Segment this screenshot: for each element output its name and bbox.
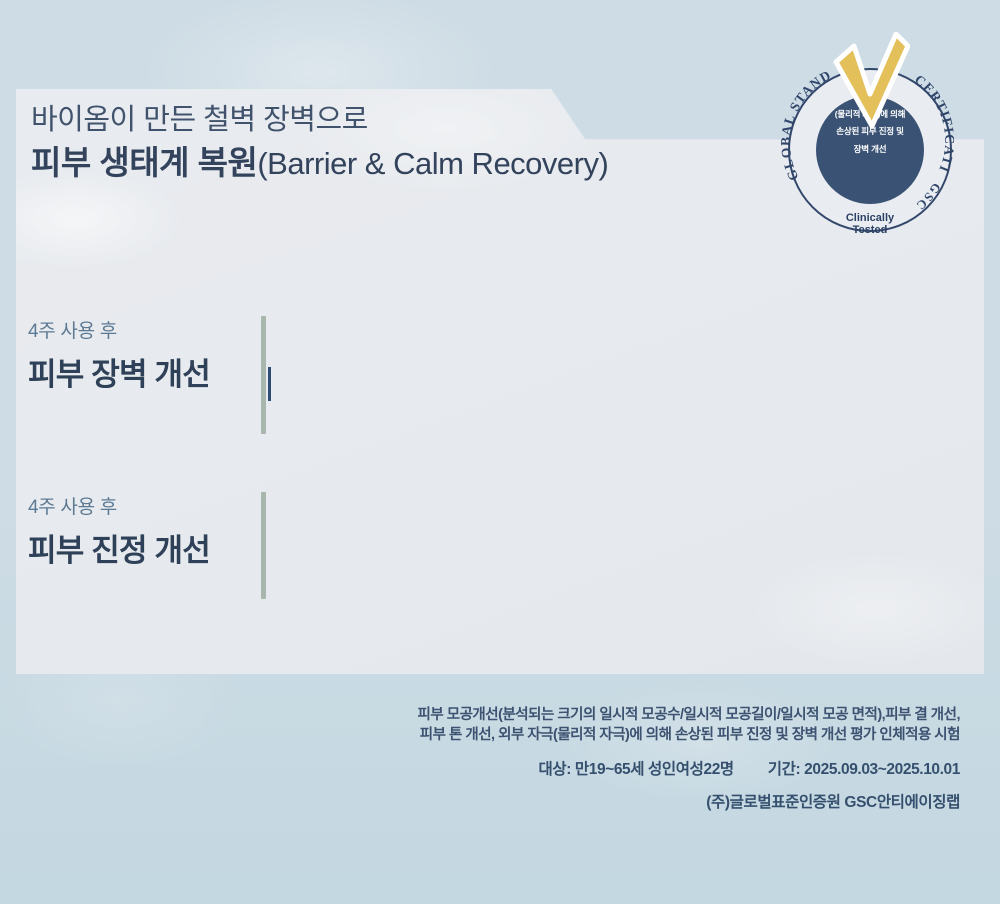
divider-bar-barrier: [261, 316, 266, 434]
badge-clinically-tested: Clinically Tested: [780, 212, 960, 237]
badge-clinically: Clinically: [780, 212, 960, 224]
footer-description: 피부 모공개선(분석되는 크기의 일시적 모공수/일시적 모공길이/일시적 모공…: [0, 706, 960, 745]
footer-organization: (주)글로벌표준인증원 GSC안티에이징랩: [0, 790, 960, 812]
page-title: 바이옴이 만든 철벽 장벽으로 피부 생태계 복원(Barrier & Calm…: [31, 106, 608, 179]
promo-banner: 바이옴이 만든 철벽 장벽으로 피부 생태계 복원(Barrier & Calm…: [0, 0, 1000, 904]
headline-strong: 피부 생태계 복원: [31, 144, 257, 181]
result-title: 피부 진정 개선: [28, 525, 210, 570]
result-subtitle: 4주 사용 후: [28, 316, 210, 343]
headline-line-2: 피부 생태계 복원(Barrier & Calm Recovery): [31, 146, 608, 179]
footer-meta: 대상: 만19~65세 성인여성22명기간: 2025.09.03~2025.1…: [0, 757, 960, 779]
divider-accent-barrier: [268, 367, 271, 401]
badge-core-line-3: 손상된 피부 진정 및: [796, 127, 944, 136]
footer-period: 기간: 2025.09.03~2025.10.01: [768, 761, 960, 778]
footer-desc-line-2: 피부 톤 개선, 외부 자극(물리적 자극)에 의해 손상된 피부 진정 및 장…: [0, 726, 960, 746]
result-block-barrier: 4주 사용 후 피부 장벽 개선: [28, 316, 210, 394]
check-mark-icon: [832, 32, 910, 128]
footer-subject: 대상: 만19~65세 성인여성22명: [539, 761, 734, 778]
headline-paren: (Barrier & Calm Recovery): [257, 146, 608, 181]
headline-line-1: 바이옴이 만든 철벽 장벽으로: [31, 106, 608, 135]
divider-bar-calming: [261, 492, 266, 599]
badge-core-line-4: 장벽 개선: [796, 145, 944, 154]
result-block-calming: 4주 사용 후 피부 진정 개선: [28, 492, 210, 570]
badge-tested: Tested: [780, 224, 960, 236]
certification-badge: GLOBAL STANDARD CERTIFICATION GSC 외부 자극 …: [780, 32, 960, 254]
footer-desc-line-1: 피부 모공개선(분석되는 크기의 일시적 모공수/일시적 모공길이/일시적 모공…: [0, 706, 960, 726]
footer: 피부 모공개선(분석되는 크기의 일시적 모공수/일시적 모공길이/일시적 모공…: [0, 706, 1000, 812]
result-subtitle: 4주 사용 후: [28, 492, 210, 519]
result-title: 피부 장벽 개선: [28, 349, 210, 394]
